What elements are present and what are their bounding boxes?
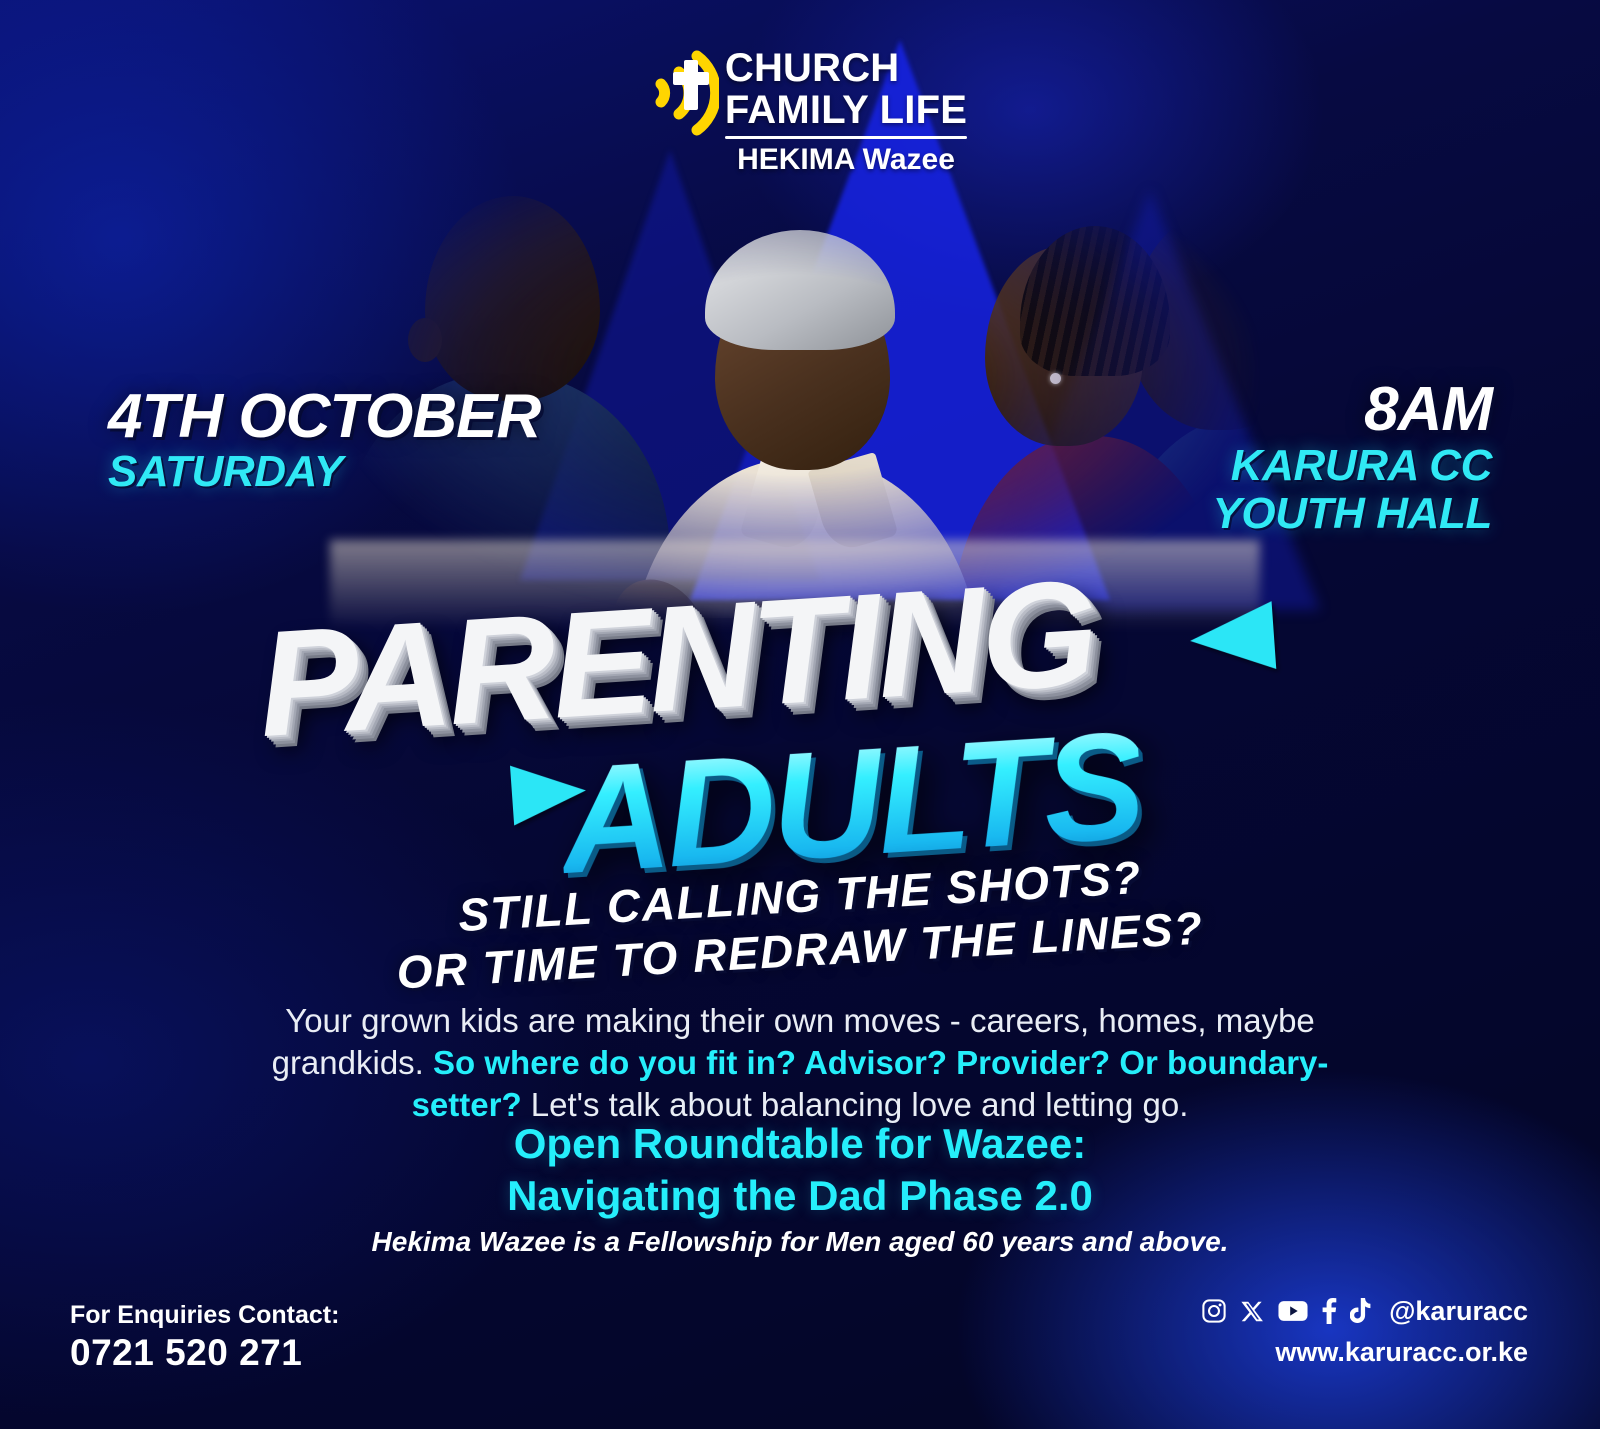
- footer-contact-block: For Enquiries Contact: 0721 520 271: [70, 1300, 339, 1375]
- logo-line-3: HEKIMA Wazee: [725, 144, 967, 176]
- event-date: 4TH OCTOBER: [108, 385, 540, 449]
- event-venue-line-2: YOUTH HALL: [1212, 490, 1492, 538]
- roundtable-heading: Open Roundtable for Wazee: Navigating th…: [0, 1118, 1600, 1222]
- contact-label: For Enquiries Contact:: [70, 1300, 339, 1330]
- youtube-icon[interactable]: [1278, 1300, 1308, 1322]
- logo-divider: [725, 136, 967, 139]
- tiktok-icon[interactable]: [1350, 1298, 1372, 1324]
- event-poster: CHURCH FAMILY LIFE HEKIMA Wazee 4TH OCTO…: [0, 0, 1600, 1429]
- website-url[interactable]: www.karuracc.or.ke: [1201, 1336, 1528, 1368]
- broadcast-cross-icon: [627, 34, 719, 152]
- event-time: 8AM: [1212, 378, 1492, 442]
- facebook-icon[interactable]: [1321, 1298, 1337, 1324]
- logo-line-2: FAMILY LIFE: [725, 90, 967, 130]
- roundtable-line-2: Navigating the Dad Phase 2.0: [0, 1170, 1600, 1222]
- tagline-block: STILL CALLING THE SHOTS? OR TIME TO REDR…: [0, 870, 1600, 976]
- instagram-icon[interactable]: [1201, 1298, 1227, 1324]
- social-handle[interactable]: @karuracc: [1389, 1296, 1528, 1326]
- event-day: SATURDAY: [108, 449, 540, 495]
- hero-title-block: PARENTING ADULTS: [0, 575, 1600, 875]
- church-family-life-logo: CHURCH FAMILY LIFE HEKIMA Wazee: [0, 32, 1600, 176]
- footer-social-block: @karuracc www.karuracc.or.ke: [1201, 1296, 1528, 1368]
- x-twitter-icon[interactable]: [1240, 1299, 1265, 1324]
- event-time-venue-block: 8AM KARURA CC YOUTH HALL: [1212, 378, 1492, 538]
- body-description: Your grown kids are making their own mov…: [230, 1000, 1370, 1126]
- logo-line-1: CHURCH: [725, 48, 967, 88]
- roundtable-line-1: Open Roundtable for Wazee:: [0, 1118, 1600, 1170]
- contact-phone-number[interactable]: 0721 520 271: [70, 1331, 339, 1375]
- event-date-block: 4TH OCTOBER SATURDAY: [108, 385, 540, 495]
- event-venue-line-1: KARURA CC: [1212, 442, 1492, 490]
- fellowship-note: Hekima Wazee is a Fellowship for Men age…: [0, 1225, 1600, 1259]
- triangle-accent-right-pointing: [510, 760, 588, 825]
- social-icon-row: @karuracc: [1201, 1296, 1528, 1326]
- triangle-accent-left-pointing: [1188, 601, 1277, 675]
